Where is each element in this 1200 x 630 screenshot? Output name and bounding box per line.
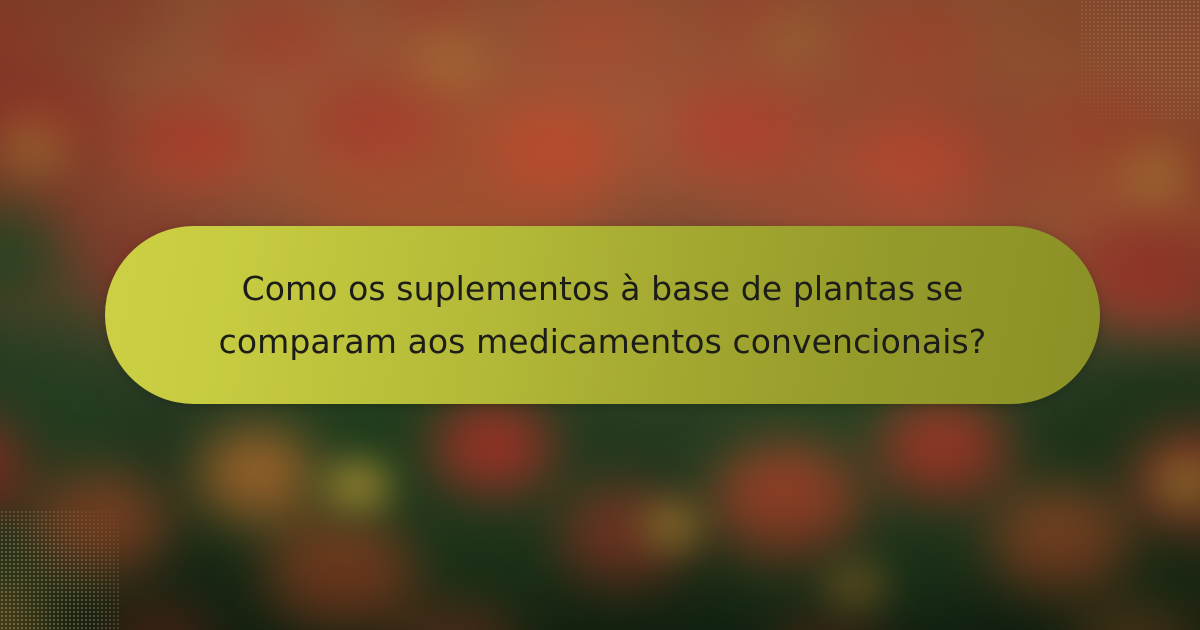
quote-text: Como os suplementos à base de plantas se… (175, 262, 1031, 369)
bg-blob (823, 563, 888, 613)
bg-blob (1157, 461, 1200, 509)
quote-card: Como os suplementos à base de plantas se… (0, 0, 1200, 630)
quote-pill: Como os suplementos à base de plantas se… (105, 226, 1100, 404)
bg-blob (322, 461, 392, 516)
bg-blob (642, 505, 702, 553)
